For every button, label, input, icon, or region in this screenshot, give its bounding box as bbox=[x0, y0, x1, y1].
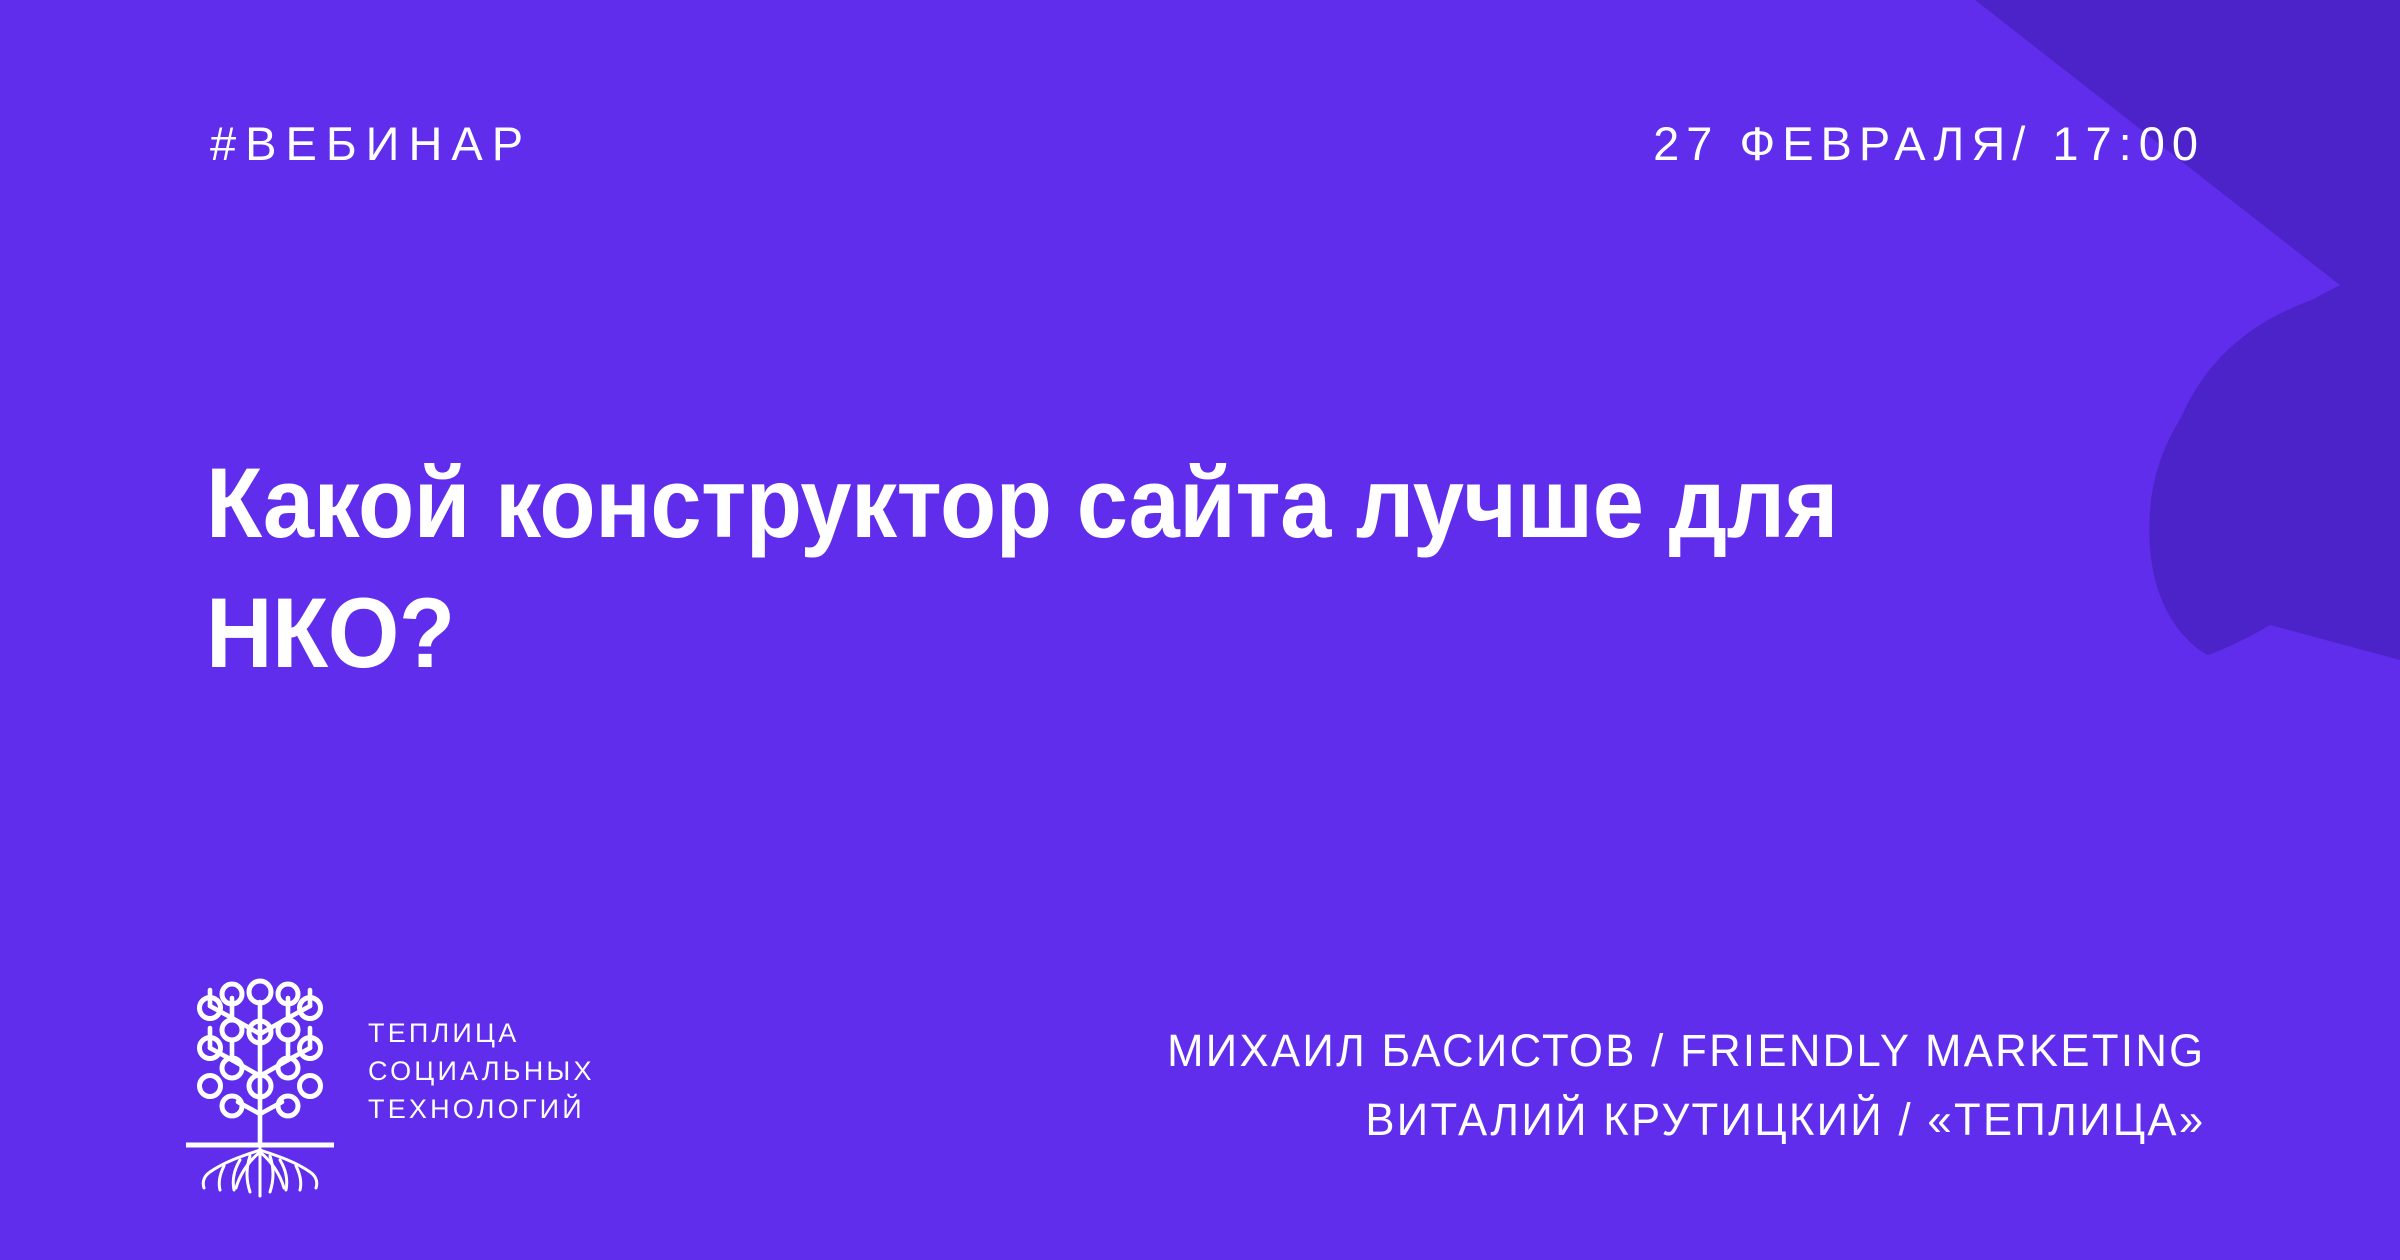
logo-text-line-3: ТЕХНОЛОГИЙ bbox=[368, 1090, 595, 1128]
banner-header-row: #ВЕБИНАР 27 ФЕВРАЛЯ/ 17:00 bbox=[0, 118, 2400, 182]
speaker-line-1: МИХАИЛ БАСИСТОВ / FRIENDLY MARKETING bbox=[1167, 1016, 2205, 1085]
logo-text-line-2: СОЦИАЛЬНЫХ bbox=[368, 1052, 595, 1090]
headline-line-1: Какой конструктор сайта лучше для bbox=[206, 447, 1838, 558]
teplitsa-logo: ТЕПЛИЦА СОЦИАЛЬНЫХ ТЕХНОЛОГИЙ bbox=[180, 964, 595, 1204]
banner-footer-row: ТЕПЛИЦА СОЦИАЛЬНЫХ ТЕХНОЛОГИЙ МИХАИЛ БАС… bbox=[0, 920, 2400, 1260]
logo-text-line-1: ТЕПЛИЦА bbox=[368, 1014, 595, 1052]
speaker-line-2: ВИТАЛИЙ КРУТИЦКИЙ / «ТЕПЛИЦА» bbox=[1167, 1085, 2205, 1154]
speakers-list: МИХАИЛ БАСИСТОВ / FRIENDLY MARKETING ВИТ… bbox=[1135, 1016, 2205, 1154]
leaf-petal-shape-body bbox=[2112, 270, 2400, 661]
headline-line-2: НКО? bbox=[206, 577, 455, 688]
teplitsa-logo-text: ТЕПЛИЦА СОЦИАЛЬНЫХ ТЕХНОЛОГИЙ bbox=[368, 1014, 595, 1154]
webinar-banner: #ВЕБИНАР 27 ФЕВРАЛЯ/ 17:00 Какой констру… bbox=[0, 0, 2400, 1260]
datetime-label: 27 ФЕВРАЛЯ/ 17:00 bbox=[1653, 118, 2205, 170]
page-title: Какой конструктор сайта лучше для НКО? bbox=[206, 438, 1954, 698]
leaf-petal-shape bbox=[2167, 280, 2400, 660]
teplitsa-node-tree-logo-icon bbox=[180, 964, 340, 1204]
hashtag-label: #ВЕБИНАР bbox=[210, 118, 532, 170]
